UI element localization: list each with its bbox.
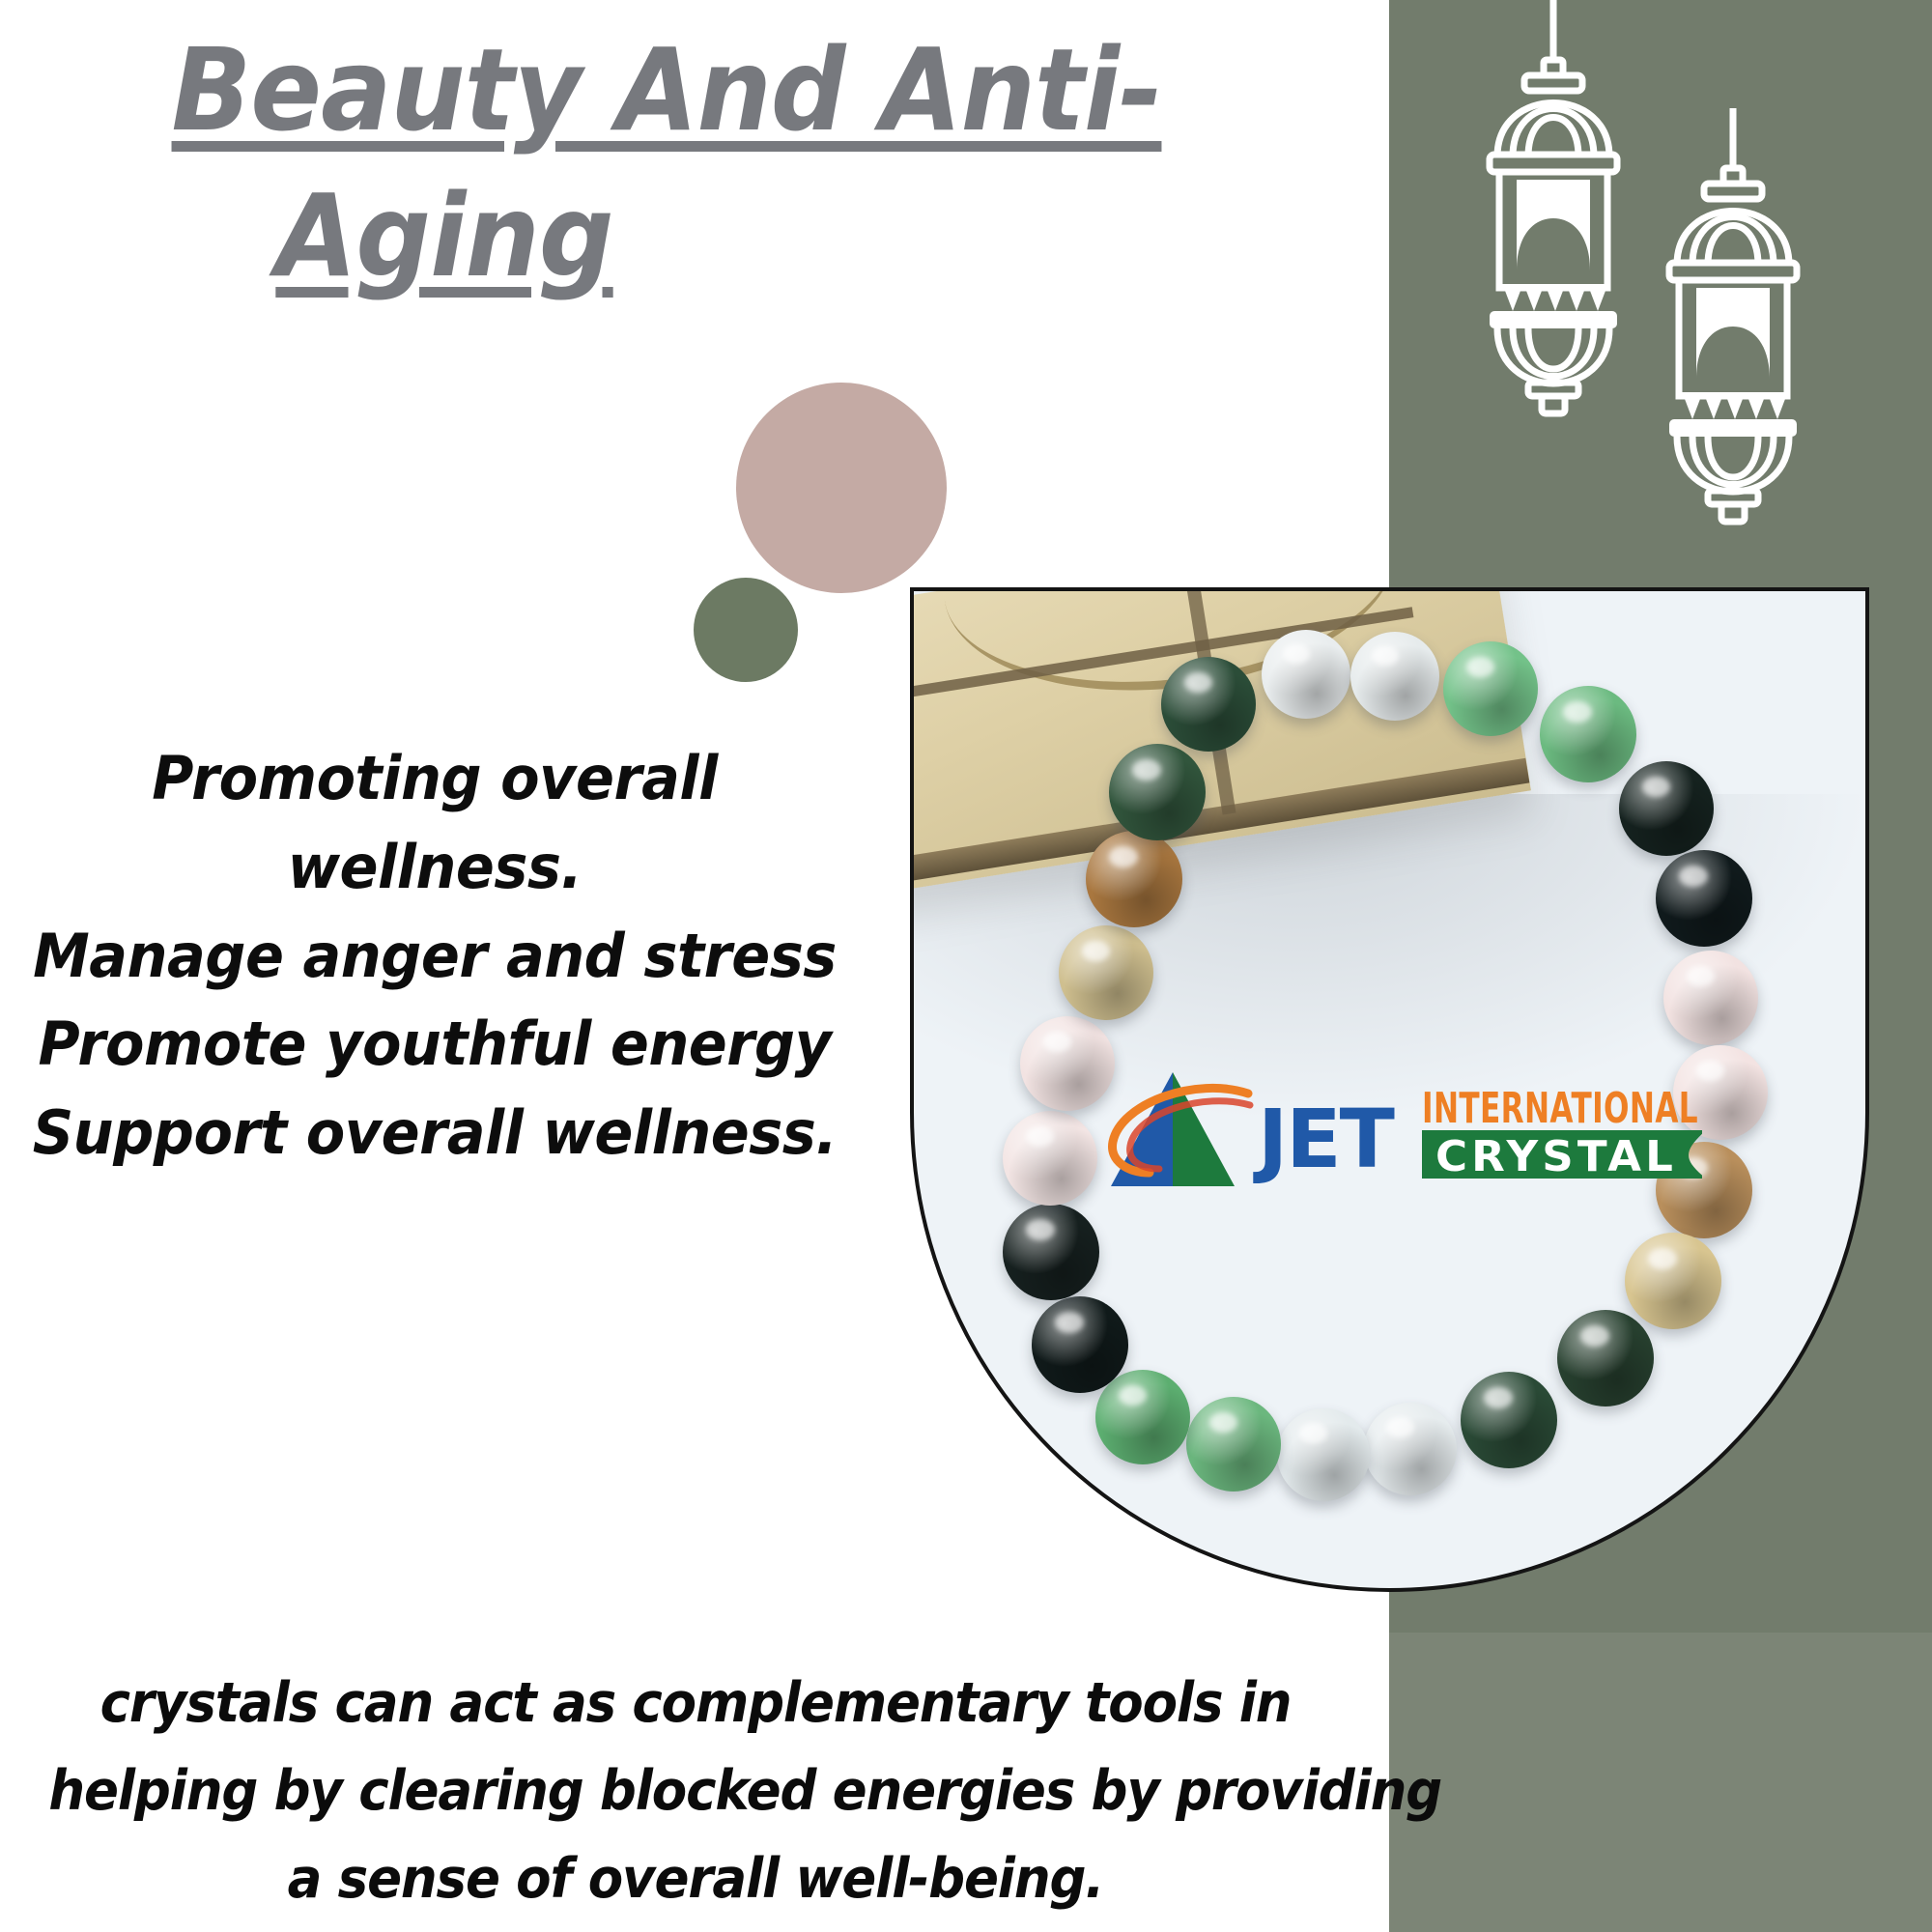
lantern-decoration-group [1389, 0, 1932, 541]
footer-line-1: crystals can act as complementary tools … [48, 1660, 1342, 1747]
bead-green-aventurine [1443, 641, 1538, 736]
footer-line-2: helping by clearing blocked energies by … [48, 1747, 1342, 1835]
bead-green-aventurine [1186, 1397, 1281, 1492]
bead-clear-quartz [1262, 630, 1350, 719]
bead-clear-quartz [1277, 1408, 1370, 1501]
bead-moss-agate [1461, 1372, 1557, 1468]
bead-black-tourmaline [1619, 761, 1714, 856]
benefit-item: Manage anger and stress [31, 912, 838, 1001]
brand-logo: JET INTERNATIONAL CRYSTAL [1103, 1066, 1702, 1192]
bead-clear-quartz [1350, 632, 1439, 721]
poster-canvas: Beauty And Anti- Aging Promoting overall… [0, 0, 1932, 1932]
green-panel-bottom [1389, 1633, 1932, 1932]
svg-text:INTERNATIONAL: INTERNATIONAL [1422, 1084, 1698, 1133]
bead-black-tourmaline [1656, 850, 1752, 947]
bead-black-tourmaline [1032, 1296, 1128, 1393]
page-title: Beauty And Anti- Aging [39, 17, 1333, 309]
benefit-item: Promote youthful energy [31, 1000, 838, 1089]
decorative-circle-pink [736, 383, 947, 593]
title-line-2: Aging [0, 163, 1262, 309]
bead-clear-quartz [1364, 1403, 1457, 1495]
bead-rose-quartz [1663, 951, 1758, 1045]
svg-text:CRYSTAL: CRYSTAL [1435, 1132, 1677, 1181]
bead-black-tourmaline [1003, 1204, 1099, 1300]
decorative-circle-green [694, 578, 798, 682]
benefit-item: Promoting overall wellness. [31, 734, 838, 912]
product-photo-content: JET INTERNATIONAL CRYSTAL [914, 591, 1865, 1588]
bead-picture-jasper [1059, 925, 1153, 1020]
product-photo: JET INTERNATIONAL CRYSTAL [910, 587, 1869, 1592]
hanging-lantern-icon [1457, 0, 1650, 435]
footer-paragraph: crystals can act as complementary tools … [48, 1660, 1342, 1924]
svg-text:JET: JET [1253, 1092, 1395, 1186]
footer-line-3: a sense of overall well-being. [48, 1835, 1342, 1923]
bead-picture-jasper [1086, 831, 1182, 927]
bead-moss-agate [1161, 657, 1256, 752]
benefit-item: Support overall wellness. [31, 1089, 838, 1178]
benefits-list: Promoting overall wellness. Manage anger… [10, 734, 860, 1178]
bead-green-aventurine [1540, 686, 1636, 782]
bead-green-aventurine [1095, 1370, 1190, 1464]
bead-rose-quartz [1003, 1111, 1097, 1206]
title-line-1: Beauty And Anti- [53, 17, 1280, 163]
bead-moss-agate [1109, 744, 1206, 840]
bead-moss-agate [1557, 1310, 1654, 1406]
bead-rose-quartz [1020, 1016, 1115, 1111]
bead-picture-jasper [1625, 1233, 1721, 1329]
hanging-lantern-icon [1636, 108, 1830, 543]
